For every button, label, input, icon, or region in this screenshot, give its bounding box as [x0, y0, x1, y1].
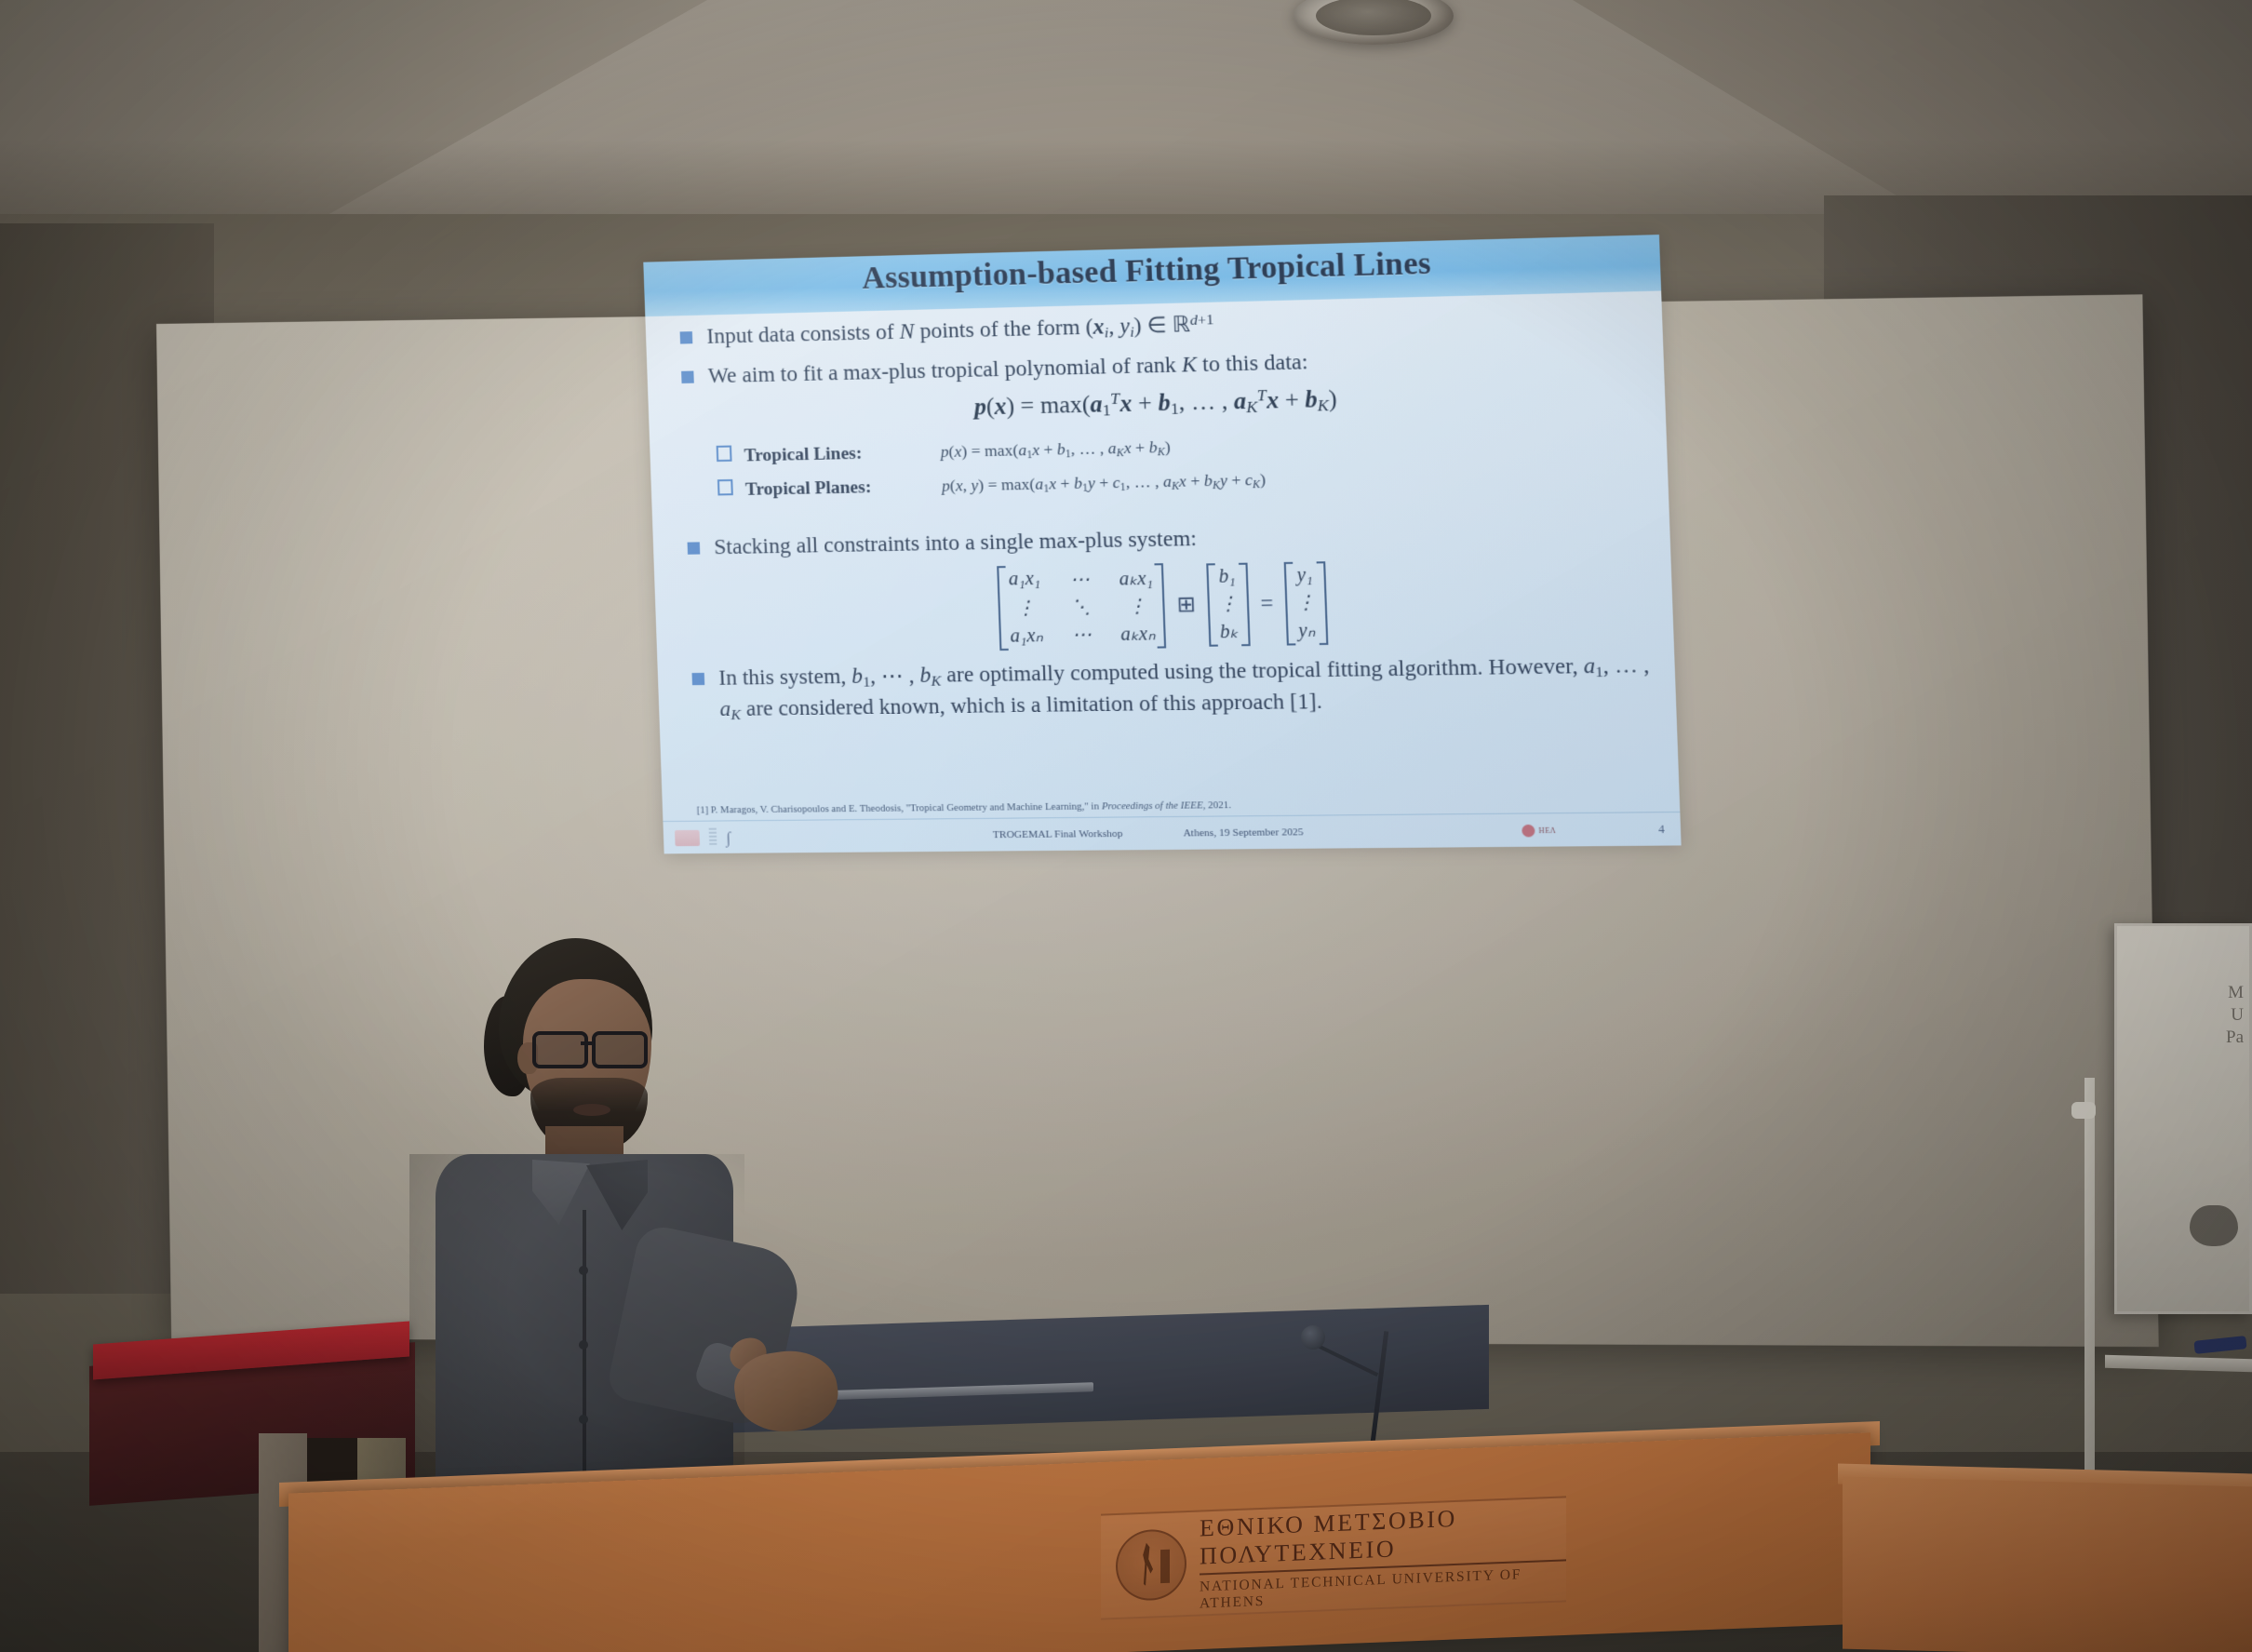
- bullet-text: We aim to fit a max-plus tropical polyno…: [707, 348, 1308, 391]
- whiteboard-stand: [2084, 1078, 2095, 1487]
- citation-journal: Proceedings of the IEEE: [1102, 800, 1203, 812]
- vector-cell: ⋮: [1215, 590, 1240, 616]
- glasses-lens-right: [592, 1031, 648, 1068]
- sponsor-logo-icon: [675, 829, 700, 845]
- side-desk: [1843, 1477, 2252, 1652]
- citation-suffix: , 2021.: [1203, 800, 1232, 812]
- plaque-text: ΕΘΝΙΚΟ ΜΕΤΣΟΒΙΟ ΠΟΛΥΤΕΧΝΕΙΟ NATIONAL TEC…: [1200, 1500, 1566, 1612]
- citation-prefix: [1] P. Maragos, V. Charisopoulos and E. …: [697, 801, 1103, 815]
- integral-logo-icon: ∫: [726, 828, 740, 845]
- matrix-cell: ⋯: [1069, 621, 1093, 647]
- vector-cell: ⋮: [1294, 589, 1318, 615]
- footer-right-logo: ΗΕΛ: [1483, 824, 1594, 838]
- footer-center: TROGEMAL Final Workshop Athens, 19 Septe…: [818, 825, 1484, 842]
- bullet-text: In this system, b1, ⋯ , bK are optimally…: [718, 651, 1653, 726]
- mouth: [573, 1104, 610, 1116]
- equals-sign: =: [1258, 591, 1276, 616]
- vector-cell: b₁: [1216, 564, 1238, 588]
- whiteboard-line: M: [2226, 982, 2244, 1004]
- vector-cell: bₖ: [1217, 618, 1240, 644]
- y-vector-grid: y₁ ⋮ yₙ: [1293, 563, 1320, 643]
- whiteboard-smudge: [2190, 1205, 2238, 1246]
- bullet-item: In this system, b1, ⋯ , bK are optimally…: [691, 651, 1652, 726]
- b-vector: b₁ ⋮ bₖ: [1206, 562, 1251, 646]
- whiteboard-line: Pa: [2226, 1027, 2244, 1049]
- lecture-hall-photo: Assumption-based Fitting Tropical Lines …: [0, 0, 2252, 1652]
- matrix-cell: aₖx₁: [1117, 565, 1156, 591]
- footer-logo-group: ∫: [664, 827, 818, 848]
- sub-bullet-label: Tropical Planes:: [745, 476, 943, 501]
- whiteboard-adjust-knob[interactable]: [2071, 1102, 2096, 1119]
- shirt-button: [579, 1266, 588, 1275]
- bullet-square-icon: [680, 331, 693, 343]
- shirt-button: [579, 1340, 588, 1350]
- footer-workshop-name: TROGEMAL Final Workshop: [993, 828, 1123, 840]
- matrix-cell: a₁xₙ: [1008, 622, 1045, 648]
- coefficient-matrix-grid: a₁x₁ ⋯ aₖx₁ ⋮ ⋱ ⋮ a₁xₙ ⋯ aₖxₙ: [1006, 565, 1158, 648]
- slide-page-number: 4: [1594, 822, 1682, 837]
- slide-footer: ∫ TROGEMAL Final Workshop Athens, 19 Sep…: [663, 812, 1681, 853]
- y-vector: y₁ ⋮ yₙ: [1283, 561, 1328, 645]
- matrix-cell: ⋮: [1007, 595, 1044, 621]
- glasses-lens-left: [532, 1031, 588, 1068]
- matrix-cell: ⋮: [1118, 593, 1157, 619]
- bullet-square-icon: [681, 371, 694, 383]
- presentation-slide: Assumption-based Fitting Tropical Lines …: [643, 235, 1681, 853]
- ntua-seal-icon: [1116, 1528, 1186, 1602]
- maxplus-operator-icon: ⊞: [1174, 592, 1198, 617]
- plaque-greek-name: ΕΘΝΙΚΟ ΜΕΤΣΟΒΙΟ ΠΟΛΥΤΕΧΝΕΙΟ: [1200, 1500, 1566, 1570]
- sub-bullet-equation: p(x, y) = max(a1x + b1y + c1, … , aKx + …: [942, 470, 1267, 497]
- speaker-person: [409, 931, 810, 1489]
- microphone-icon: [1301, 1325, 1325, 1350]
- institution-mark-icon: [1521, 824, 1535, 837]
- matrix-cell: a₁x₁: [1006, 567, 1043, 593]
- matrix-cell: ⋯: [1067, 566, 1092, 592]
- institution-logo-label: ΗΕΛ: [1538, 826, 1556, 835]
- sub-bullet-label: Tropical Lines:: [744, 442, 941, 467]
- bullet-square-icon: [688, 543, 701, 555]
- whiteboard-line: U: [2226, 1004, 2244, 1027]
- matrix-cell: ⋱: [1068, 594, 1092, 620]
- bullet-hollow-square-icon: [717, 445, 732, 462]
- vector-cell: yₙ: [1296, 617, 1318, 643]
- matrix-cell: aₖxₙ: [1119, 620, 1158, 646]
- bullet-square-icon: [691, 672, 704, 684]
- bullet-text: Input data consists of N points of the f…: [706, 310, 1214, 354]
- flag-logo-icon: [709, 828, 717, 847]
- sub-bullet-equation: p(x) = max(a1x + b1, … , aKx + bK): [940, 437, 1171, 463]
- b-vector-grid: b₁ ⋮ bₖ: [1214, 564, 1240, 644]
- matrix-equation: a₁x₁ ⋯ aₖx₁ ⋮ ⋱ ⋮ a₁xₙ ⋯ aₖxₙ ⊞: [689, 555, 1650, 655]
- vector-cell: y₁: [1294, 563, 1315, 587]
- glasses-icon: [532, 1031, 651, 1065]
- slide-body: Input data consists of N points of the f…: [679, 299, 1655, 799]
- bullet-hollow-square-icon: [717, 479, 733, 496]
- shirt-placket: [583, 1210, 586, 1489]
- footer-location-date: Athens, 19 September 2025: [1183, 826, 1303, 839]
- podium-plaque: ΕΘΝΙΚΟ ΜΕΤΣΟΒΙΟ ΠΟΛΥΤΕΧΝΕΙΟ NATIONAL TEC…: [1101, 1496, 1566, 1619]
- coefficient-matrix: a₁x₁ ⋯ aₖx₁ ⋮ ⋱ ⋮ a₁xₙ ⋯ aₖxₙ: [997, 563, 1166, 651]
- shirt-button: [579, 1415, 588, 1424]
- whiteboard: M U Pa: [2114, 923, 2252, 1314]
- whiteboard-writing: M U Pa: [2226, 982, 2244, 1048]
